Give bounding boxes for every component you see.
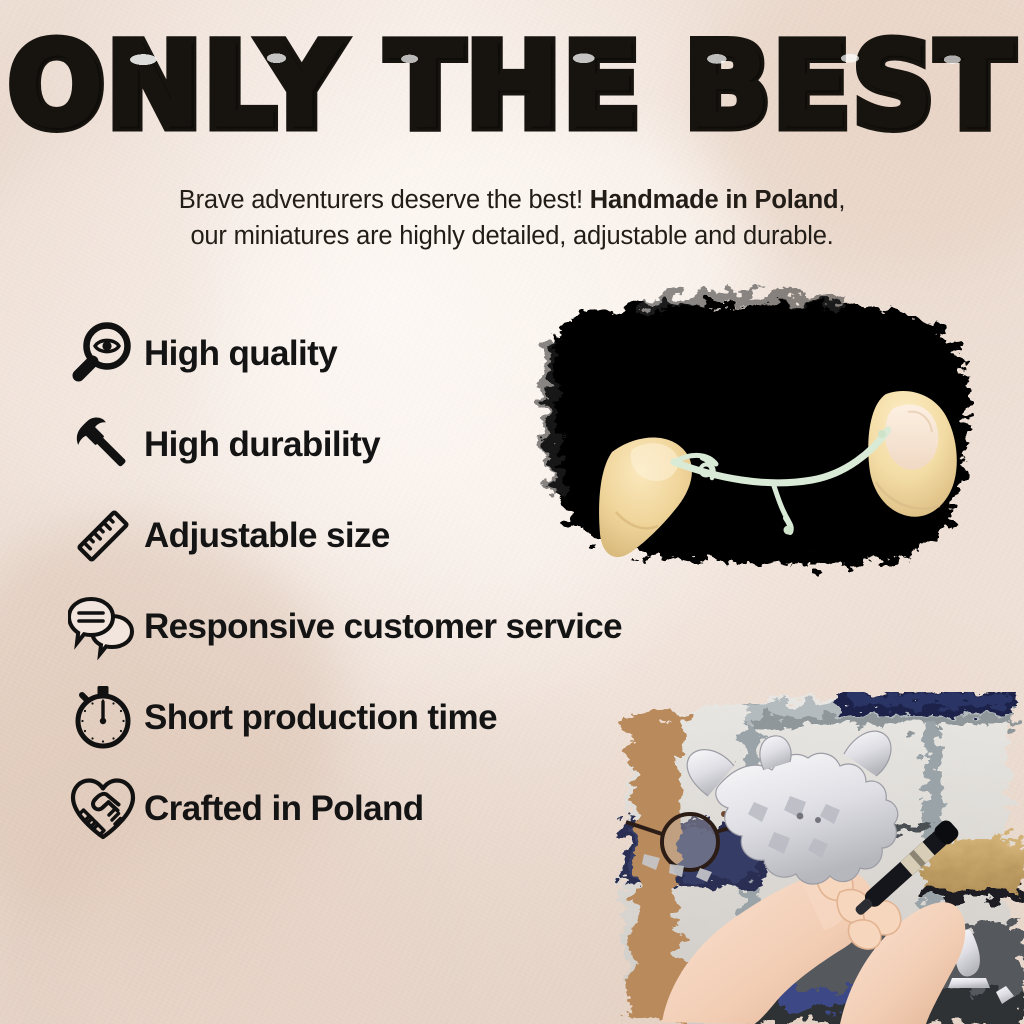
feature-item-responsive-customer-service: Responsive customer service xyxy=(62,581,762,672)
feature-label: Short production time xyxy=(144,698,497,738)
promo-poster: ONLY THE BEST Brave adventurers deserve … xyxy=(0,0,1024,1024)
page-title: ONLY THE BEST xyxy=(8,28,1016,144)
feature-label: Responsive customer service xyxy=(144,607,622,647)
feature-label: High quality xyxy=(144,334,337,374)
ruler-icon xyxy=(62,499,144,573)
subtitle: Brave adventurers deserve the best! Hand… xyxy=(0,182,1024,254)
subtitle-line1-strong: Handmade in Poland xyxy=(590,186,839,214)
subtitle-line1-tail: , xyxy=(838,186,845,214)
subtitle-line2: our miniatures are highly detailed, adju… xyxy=(190,222,833,250)
feature-label: Crafted in Poland xyxy=(144,789,424,829)
feature-label: Adjustable size xyxy=(144,516,390,556)
hammer-icon xyxy=(62,408,144,482)
workshop-painting-photo xyxy=(604,692,1024,1024)
handshake-heart-icon xyxy=(62,772,144,846)
speech-bubbles-icon xyxy=(62,590,144,664)
headline-container: ONLY THE BEST xyxy=(0,34,1024,138)
flexibility-demo-photo xyxy=(516,282,1006,588)
magnifier-eye-icon xyxy=(62,317,144,391)
feature-label: High durability xyxy=(144,425,380,465)
subtitle-line1-lead: Brave adventurers deserve the best! xyxy=(179,186,583,214)
stopwatch-icon xyxy=(62,681,144,755)
